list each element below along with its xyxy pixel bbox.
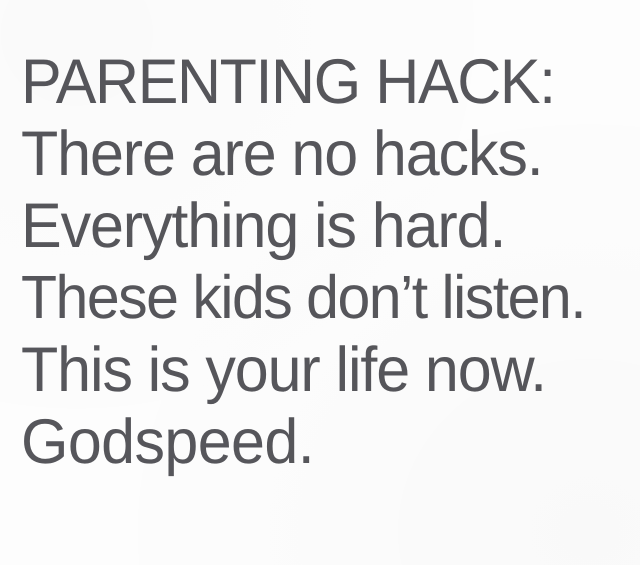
quote-line-3: Everything is hard. — [21, 188, 636, 263]
quote-image: PARENTING HACK: There are no hacks. Ever… — [0, 0, 640, 565]
quote-line-2: There are no hacks. — [21, 116, 636, 191]
quote-text-block: PARENTING HACK: There are no hacks. Ever… — [21, 44, 636, 476]
quote-line-5: This is your life now. — [21, 332, 636, 407]
quote-line-1: PARENTING HACK: — [21, 44, 636, 119]
quote-line-4: These kids don’t listen. — [21, 260, 636, 335]
quote-line-6: Godspeed. — [21, 404, 636, 479]
